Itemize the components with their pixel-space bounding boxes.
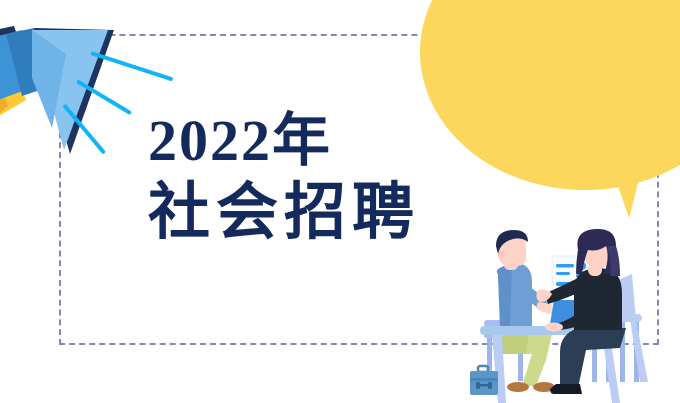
speech-bubble-tail	[609, 156, 651, 219]
applicant-ear	[498, 251, 504, 257]
page-title: 2022年 社会招聘	[148, 112, 448, 244]
headline-subject: 社会招聘	[148, 182, 448, 244]
briefcase-strap	[470, 378, 498, 381]
briefcase	[470, 366, 498, 395]
applicant-shoe-left	[507, 382, 529, 392]
job-interview-illustration	[470, 228, 680, 403]
briefcase-lock	[479, 384, 489, 387]
resume-line	[556, 264, 574, 268]
megaphone-icon	[0, 8, 148, 158]
applicant-figure	[496, 230, 558, 392]
briefcase-body	[470, 371, 498, 395]
resume-line	[556, 272, 570, 275]
recruitment-banner: 2022年 社会招聘	[0, 0, 680, 403]
interviewer-hand-right	[545, 323, 563, 332]
interviewer-shoe	[550, 384, 582, 394]
headline-year: 2022年	[148, 112, 448, 170]
